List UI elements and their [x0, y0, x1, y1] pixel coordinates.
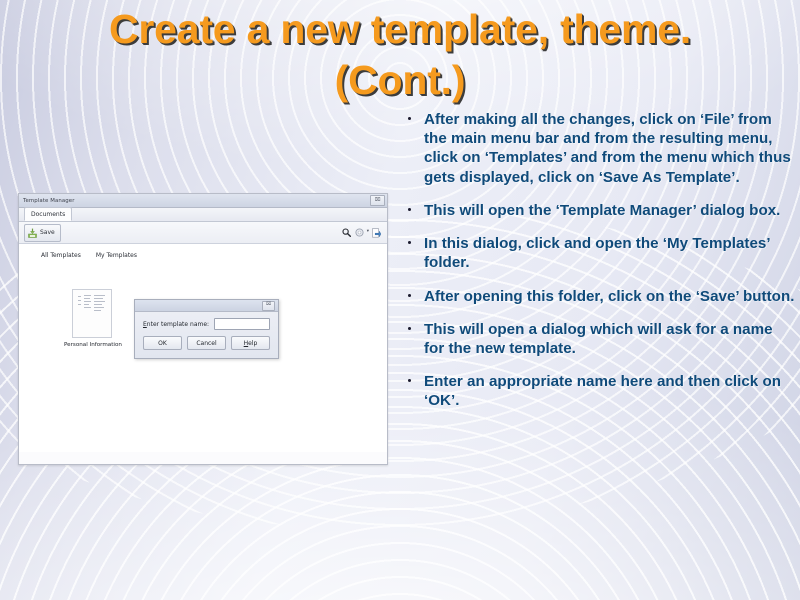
list-item: After making all the changes, click on ‘…: [398, 110, 796, 187]
slide-canvas: Create a new template, theme. (Cont.) Af…: [0, 0, 800, 600]
folder-row: All Templates My Templates: [19, 244, 387, 259]
save-disk-icon: [28, 228, 37, 238]
dialog-titlebar: ⌧: [135, 300, 278, 312]
cancel-button[interactable]: Cancel: [187, 336, 226, 350]
settings-circle-icon[interactable]: [355, 228, 364, 237]
list-item: This will open the ‘Template Manager’ di…: [398, 201, 796, 220]
bullet-dot-icon: [408, 327, 411, 330]
template-name-label-rest: nter template name:: [147, 321, 209, 328]
save-button-label: Save: [40, 229, 55, 236]
close-icon[interactable]: ⌧: [370, 195, 385, 206]
bullet-dot-icon: [408, 117, 411, 120]
save-button[interactable]: Save: [24, 224, 61, 242]
window-title: Template Manager: [23, 198, 370, 204]
list-item: In this dialog, click and open the ‘My T…: [398, 234, 796, 272]
page-title: Create a new template, theme. (Cont.): [40, 4, 760, 106]
template-item[interactable]: Personal Information: [64, 289, 120, 348]
bullet-dot-icon: [408, 379, 411, 382]
page-title-line-2: (Cont.): [40, 55, 760, 106]
window-body: All Templates My Templates: [19, 244, 387, 452]
bullet-list: After making all the changes, click on ‘…: [398, 110, 796, 425]
list-item-label: After opening this folder, click on the …: [424, 288, 794, 305]
bullet-dot-icon: [408, 294, 411, 297]
template-name-label: Enter template name:: [143, 321, 209, 328]
dialog-button-row: OK Cancel Help: [135, 330, 278, 358]
template-item-label: Personal Information: [64, 342, 120, 348]
close-icon[interactable]: ⌧: [262, 301, 275, 311]
toolbar: Save ▾: [19, 222, 387, 244]
template-name-dialog: ⌧ Enter template name: OK Cancel Help: [134, 299, 279, 359]
import-template-icon[interactable]: [372, 228, 381, 238]
template-name-input[interactable]: [214, 318, 270, 330]
tab-strip: Documents: [19, 208, 387, 222]
tab-documents[interactable]: Documents: [24, 207, 72, 221]
list-item-label: In this dialog, click and open the ‘My T…: [424, 235, 770, 271]
ok-button[interactable]: OK: [143, 336, 182, 350]
dialog-field-row: Enter template name:: [135, 312, 278, 330]
help-button-label-rest: elp: [248, 340, 257, 347]
template-manager-screenshot: Template Manager ⌧ Documents Save: [18, 193, 388, 465]
page-title-line-1: Create a new template, theme.: [40, 4, 760, 55]
document-thumbnail-icon: [72, 289, 112, 338]
window-titlebar: Template Manager ⌧: [19, 194, 387, 208]
search-icon[interactable]: [342, 228, 351, 237]
list-item-label: This will open a dialog which will ask f…: [424, 321, 773, 357]
help-button[interactable]: Help: [231, 336, 270, 350]
list-item: After opening this folder, click on the …: [398, 287, 796, 306]
bullet-dot-icon: [408, 208, 411, 211]
list-item: This will open a dialog which will ask f…: [398, 320, 796, 358]
list-item-label: This will open the ‘Template Manager’ di…: [424, 202, 780, 219]
folder-my-templates[interactable]: My Templates: [96, 252, 137, 259]
folder-all-templates[interactable]: All Templates: [41, 252, 81, 259]
list-item-label: After making all the changes, click on ‘…: [424, 111, 791, 186]
list-item: Enter an appropriate name here and then …: [398, 372, 796, 410]
chevron-down-icon[interactable]: ▾: [367, 230, 369, 235]
list-item-label: Enter an appropriate name here and then …: [424, 373, 781, 409]
toolbar-right-group: ▾: [342, 228, 381, 238]
bullet-dot-icon: [408, 241, 411, 244]
